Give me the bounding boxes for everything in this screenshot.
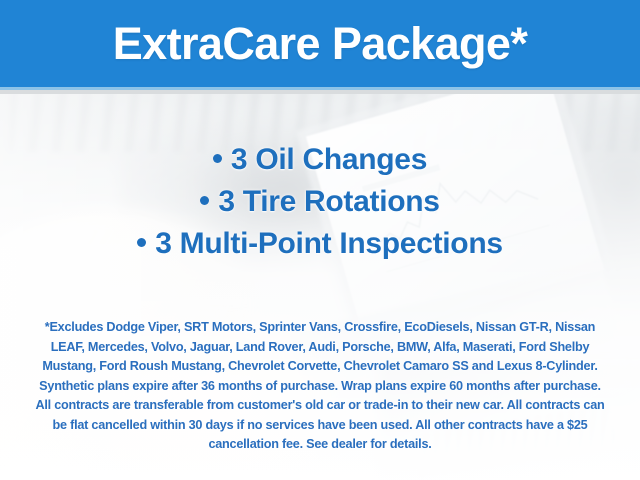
benefit-item-tire-rotations: 3 Tire Rotations xyxy=(0,181,640,223)
bullet-dot-icon xyxy=(137,238,146,247)
disclaimer-text: *Excludes Dodge Viper, SRT Motors, Sprin… xyxy=(13,317,627,454)
benefit-item-multi-point-inspections: 3 Multi-Point Inspections xyxy=(0,223,640,265)
benefit-label: 3 Multi-Point Inspections xyxy=(155,227,503,260)
bullet-dot-icon xyxy=(213,154,222,163)
header-bar: ExtraCare Package* xyxy=(0,0,640,87)
benefits-list: 3 Oil Changes 3 Tire Rotations 3 Multi-P… xyxy=(0,94,640,265)
bullet-dot-icon xyxy=(200,196,209,205)
benefit-item-oil-changes: 3 Oil Changes xyxy=(0,139,640,181)
page-title: ExtraCare Package* xyxy=(113,21,527,66)
promo-content: 3 Oil Changes 3 Tire Rotations 3 Multi-P… xyxy=(0,94,640,480)
benefit-label: 3 Tire Rotations xyxy=(218,185,439,218)
extracare-package-promo: ExtraCare Package* 3 Oil Changes 3 Tire … xyxy=(0,0,640,480)
header-shadow-rule xyxy=(0,90,640,94)
benefit-label: 3 Oil Changes xyxy=(231,143,427,176)
